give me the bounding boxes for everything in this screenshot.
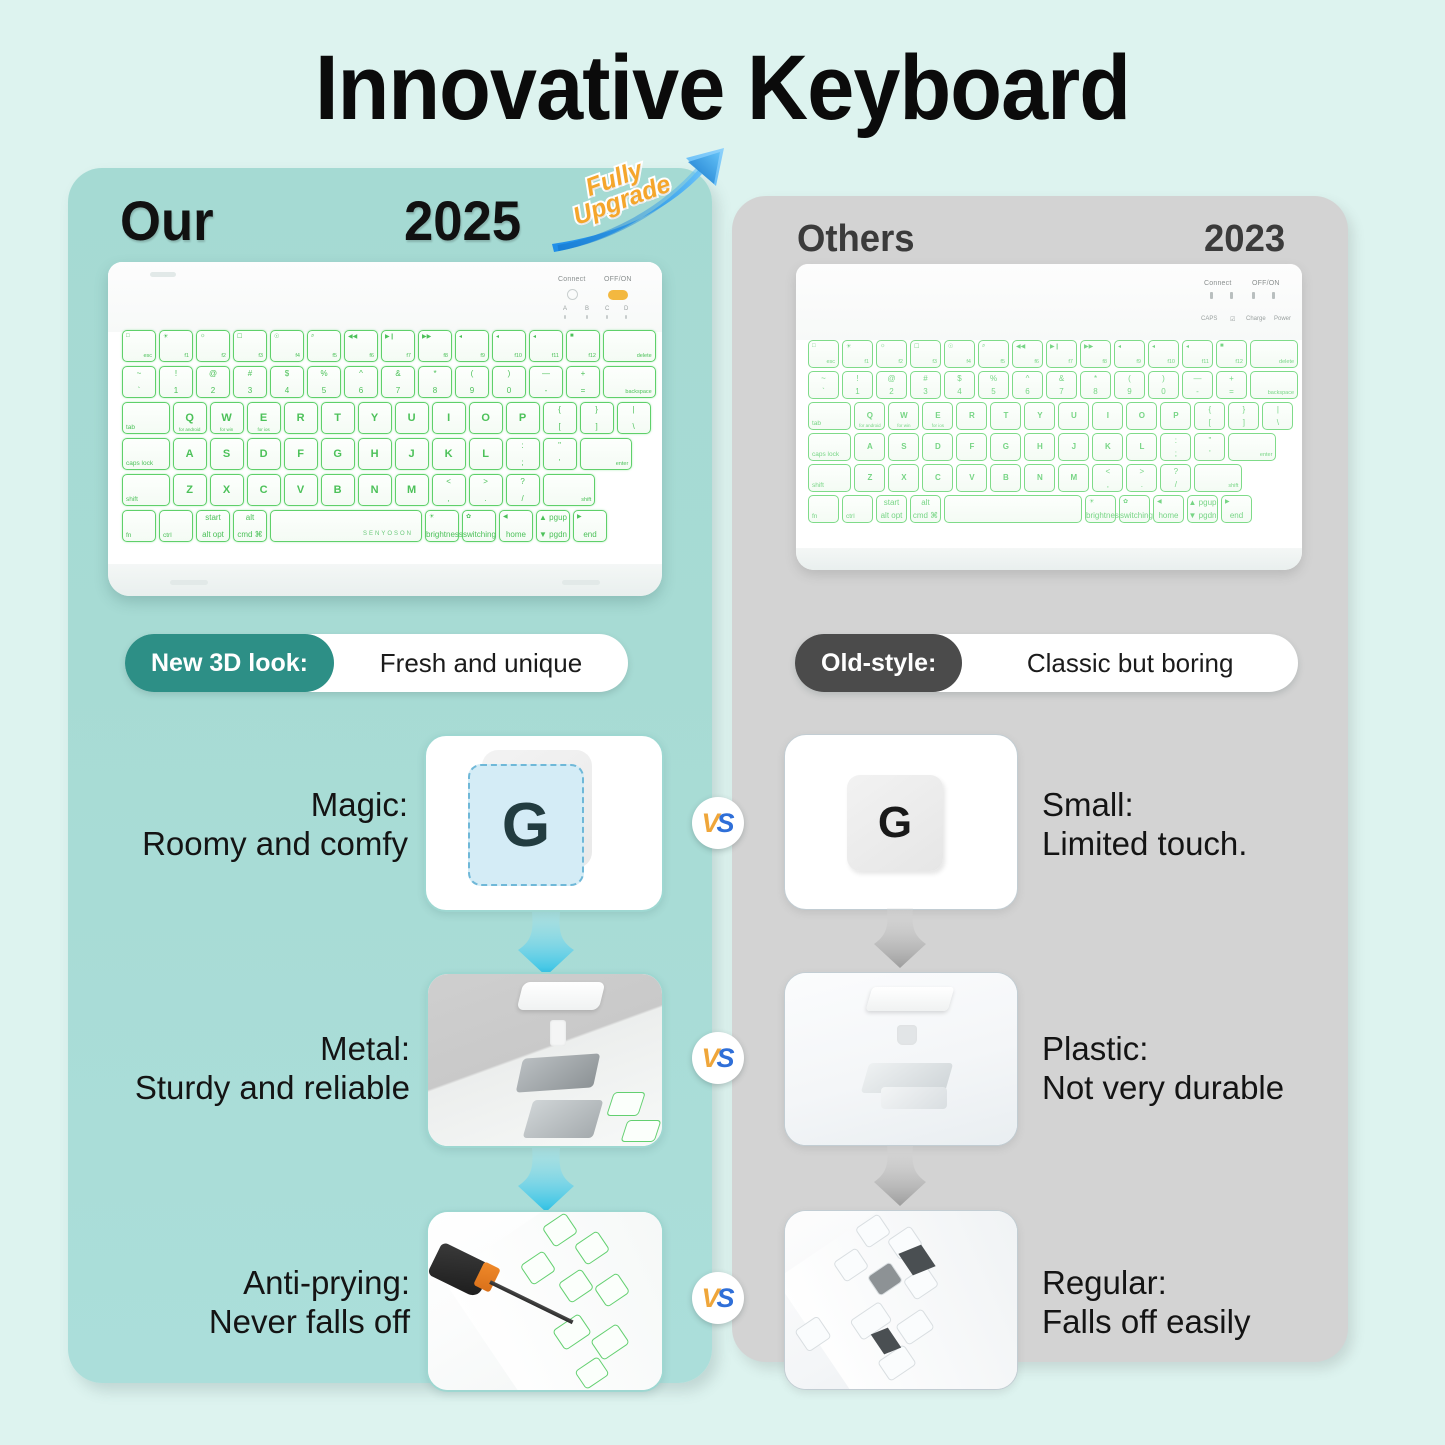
our-feature-1-detail: Roomy and comfy: [142, 825, 408, 864]
keyboard-key[interactable]: +=: [1216, 371, 1247, 399]
keyboard-key[interactable]: ▲ pgup▼ pgdn: [536, 510, 570, 542]
caps-indicator-label: CAPS: [1201, 316, 1217, 322]
keyboard-key[interactable]: (9: [455, 366, 489, 398]
others-plastic-structure-thumb: [784, 972, 1018, 1146]
keyboard-key[interactable]: (9: [1114, 371, 1145, 399]
keyboard-key[interactable]: #3: [910, 371, 941, 399]
our-feature-1-heading: Magic:: [142, 786, 408, 825]
keyboard-key[interactable]: □esc: [122, 330, 156, 362]
keyboard-key[interactable]: Wfor win: [888, 402, 919, 430]
keyboard-key[interactable]: ▶▶f8: [1080, 340, 1111, 368]
connect-indicator-icon: [567, 289, 578, 300]
keyboard-key[interactable]: ▶❙f7: [1046, 340, 1077, 368]
keyboard-key[interactable]: ^6: [1012, 371, 1043, 399]
keyboard-key[interactable]: Z: [854, 464, 885, 492]
keyboard-key[interactable]: tab: [808, 402, 851, 430]
keyboard-key[interactable]: |\: [617, 402, 651, 434]
vs-badge-3: VS: [692, 1272, 744, 1324]
charge-indicator-label: Charge: [1246, 316, 1266, 322]
keyboard-key[interactable]: ☐f3: [233, 330, 267, 362]
others-feature-3-text: Regular: Falls off easily: [1042, 1264, 1250, 1342]
keyboard-key[interactable]: ✿switching: [462, 510, 496, 542]
keyboard-key[interactable]: }]: [1228, 402, 1259, 430]
keyboard-key[interactable]: V: [284, 474, 318, 506]
keyboard-key[interactable]: S: [210, 438, 244, 470]
keyboard-key[interactable]: %5: [307, 366, 341, 398]
our-label: Our: [120, 188, 214, 253]
others-style-tag: Old-style:: [795, 634, 962, 692]
keyboard-key[interactable]: Efor ios: [922, 402, 953, 430]
keyboard-key[interactable]: U: [395, 402, 429, 434]
keyboard-key[interactable]: D: [247, 438, 281, 470]
keyboard-key[interactable]: &7: [1046, 371, 1077, 399]
power-indicator-label: Power: [1274, 316, 1291, 322]
others-feature-3-detail: Falls off easily: [1042, 1303, 1250, 1342]
keyboard-key[interactable]: caps lock: [122, 438, 170, 470]
keyboard-key[interactable]: J: [1058, 433, 1089, 461]
keyboard-key[interactable]: D: [922, 433, 953, 461]
keyboard-key[interactable]: Wfor win: [210, 402, 244, 434]
others-style-pill: Old-style: Classic but boring: [795, 634, 1298, 692]
keyboard-key[interactable]: ◂f10: [492, 330, 526, 362]
keyboard-key[interactable]: $4: [270, 366, 304, 398]
keyboard-key[interactable]: ?/: [1160, 464, 1191, 492]
key-row: tabQfor androidWfor winEfor iosRTYUIOP{[…: [808, 402, 1296, 430]
key-row: fnctrlstartalt optaltcmd ⌘☀brightness✿sw…: [808, 495, 1255, 523]
keyboard-key[interactable]: #3: [233, 366, 267, 398]
power-label: OFF/ON: [1252, 280, 1280, 287]
our-keycap-thumb: G: [424, 734, 664, 912]
key-row: shiftZXCVBNM<,>.?/shift: [122, 474, 598, 506]
keyboard-key[interactable]: startalt opt: [876, 495, 907, 523]
keyboard-key[interactable]: ▲ pgup▼ pgdn: [1187, 495, 1218, 523]
keyboard-key[interactable]: shift: [543, 474, 596, 506]
keyboard-key[interactable]: Z: [173, 474, 207, 506]
our-feature-2-heading: Metal:: [135, 1030, 410, 1069]
keyboard-key[interactable]: O: [1126, 402, 1157, 430]
keyboard-key[interactable]: ~`: [122, 366, 156, 398]
keyboard-key[interactable]: Efor ios: [247, 402, 281, 434]
our-feature-3-text: Anti-prying: Never falls off: [70, 1264, 410, 1342]
vs-s: S: [717, 1043, 735, 1074]
keyboard-key[interactable]: X: [888, 464, 919, 492]
infographic-root: Innovative Keyboard Our 2025 Others 2023: [0, 0, 1445, 1445]
keyboard-key[interactable]: backspace: [1250, 371, 1298, 399]
keyboard-key[interactable]: ◂f10: [1148, 340, 1179, 368]
keyboard-top-bezel: [796, 264, 1302, 340]
keyboard-key[interactable]: F: [284, 438, 318, 470]
keyboard-key[interactable]: "': [543, 438, 577, 470]
keyboard-key[interactable]: —-: [1182, 371, 1213, 399]
keyboard-key[interactable]: {[: [543, 402, 577, 434]
others-feature-1-detail: Limited touch.: [1042, 825, 1247, 864]
keyboard-key[interactable]: □esc: [808, 340, 839, 368]
keyboard-key[interactable]: ◀home: [1153, 495, 1184, 523]
indicator-letter-b: B: [585, 306, 589, 312]
keyboard-key[interactable]: ◂f9: [1114, 340, 1145, 368]
keyboard-key[interactable]: C: [247, 474, 281, 506]
page-title: Innovative Keyboard: [58, 36, 1387, 141]
key-row: caps lockASDFGHJKL:;"'enter: [808, 433, 1279, 461]
keyboard-key[interactable]: C: [922, 464, 953, 492]
keyboard-key[interactable]: >.: [469, 474, 503, 506]
keyboard-key[interactable]: }]: [580, 402, 614, 434]
keyboard-key[interactable]: M: [1058, 464, 1089, 492]
keyboard-key[interactable]: ctrl: [842, 495, 873, 523]
bezel-notch: [150, 272, 176, 277]
keyboard-key[interactable]: enter: [1228, 433, 1276, 461]
others-keycap-letter: G: [878, 798, 912, 848]
others-keycap-thumb: G: [784, 734, 1018, 910]
keyboard-key[interactable]: fn: [808, 495, 839, 523]
down-arrow-icon-left-2: [510, 1148, 582, 1214]
keyboard-key[interactable]: :;: [506, 438, 540, 470]
keyboard-bottom-lip: [796, 548, 1302, 570]
keyboard-key[interactable]: ☼f2: [196, 330, 230, 362]
keyboard-key[interactable]: !1: [159, 366, 193, 398]
keyboard-key[interactable]: ☉f4: [270, 330, 304, 362]
our-style-text: Fresh and unique: [334, 634, 628, 692]
keyboard-key[interactable]: S: [888, 433, 919, 461]
keyboard-key[interactable]: J: [395, 438, 429, 470]
our-feature-3-detail: Never falls off: [209, 1303, 410, 1342]
key-row: shiftZXCVBNM<,>.?/shift: [808, 464, 1245, 492]
keyboard-key[interactable]: [944, 495, 1082, 523]
vs-s: S: [717, 1283, 735, 1314]
keyboard-key[interactable]: ■f12: [566, 330, 600, 362]
down-arrow-icon-right-2: [866, 1146, 934, 1208]
keyboard-key[interactable]: ctrl: [159, 510, 193, 542]
our-feature-2-detail: Sturdy and reliable: [135, 1069, 410, 1108]
our-keycap-highlight: G: [468, 764, 584, 886]
keyboard-key[interactable]: O: [469, 402, 503, 434]
others-feature-2-detail: Not very durable: [1042, 1069, 1284, 1108]
our-feature-2-text: Metal: Sturdy and reliable: [70, 1030, 410, 1108]
keyboard-key[interactable]: ☀brightness: [425, 510, 459, 542]
keyboard-key[interactable]: N: [358, 474, 392, 506]
keyboard-key[interactable]: @2: [876, 371, 907, 399]
our-style-tag: New 3D look:: [125, 634, 334, 692]
our-style-pill: New 3D look: Fresh and unique: [125, 634, 628, 692]
key-row: tabQfor androidWfor winEfor iosRTYUIOP{[…: [122, 402, 654, 434]
indicator-letter-d: D: [624, 306, 628, 312]
keyboard-key[interactable]: backspace: [603, 366, 656, 398]
keyboard-key[interactable]: ▶end: [573, 510, 607, 542]
others-year: 2023: [1204, 218, 1285, 261]
lip-notch-right: [562, 580, 600, 585]
keyboard-key[interactable]: ⌕f5: [307, 330, 341, 362]
keyboard-key[interactable]: shift: [122, 474, 170, 506]
keyboard-key[interactable]: Y: [358, 402, 392, 434]
keyboard-key[interactable]: P: [506, 402, 540, 434]
keyboard-key[interactable]: $4: [944, 371, 975, 399]
keyboard-key[interactable]: SENYOSON: [270, 510, 422, 542]
keyboard-key[interactable]: altcmd ⌘: [233, 510, 267, 542]
keyboard-key[interactable]: fn: [122, 510, 156, 542]
keyboard-key[interactable]: {[: [1194, 402, 1225, 430]
keyboard-key[interactable]: <,: [432, 474, 466, 506]
indicator-letter-c: C: [605, 306, 609, 312]
connect-label: Connect: [1204, 280, 1231, 287]
keyboard-key[interactable]: %5: [978, 371, 1009, 399]
keyboard-key[interactable]: ▶end: [1221, 495, 1252, 523]
connect-label: Connect: [558, 276, 585, 283]
keyboard-key[interactable]: G: [990, 433, 1021, 461]
keyboard-key[interactable]: —-: [529, 366, 563, 398]
keyboard-key[interactable]: ~`: [808, 371, 839, 399]
our-antiprying-thumb: [426, 1210, 664, 1392]
keyboard-key[interactable]: ◂f11: [529, 330, 563, 362]
keyboard-key[interactable]: K: [432, 438, 466, 470]
vs-s: S: [717, 808, 735, 839]
keyboard-key[interactable]: ?/: [506, 474, 540, 506]
keyboard-key[interactable]: ☉f4: [944, 340, 975, 368]
keyboard-key[interactable]: altcmd ⌘: [910, 495, 941, 523]
keyboard-key[interactable]: caps lock: [808, 433, 851, 461]
our-feature-1-text: Magic: Roomy and comfy: [88, 786, 408, 864]
others-feature-2-heading: Plastic:: [1042, 1030, 1284, 1069]
power-label: OFF/ON: [604, 276, 632, 283]
keyboard-key[interactable]: P: [1160, 402, 1191, 430]
keyboard-key[interactable]: shift: [1194, 464, 1242, 492]
keyboard-key[interactable]: Qfor android: [173, 402, 207, 434]
others-feature-1-heading: Small:: [1042, 786, 1247, 825]
keyboard-key[interactable]: ◀◀f6: [1012, 340, 1043, 368]
keyboard-key[interactable]: Qfor android: [854, 402, 885, 430]
keyboard-key[interactable]: U: [1058, 402, 1089, 430]
power-switch-icon: [608, 290, 628, 300]
keyboard-key[interactable]: G: [321, 438, 355, 470]
keyboard-key[interactable]: M: [395, 474, 429, 506]
keyboard-key[interactable]: N: [1024, 464, 1055, 492]
keyboard-key[interactable]: X: [210, 474, 244, 506]
keyboard-key[interactable]: "': [1194, 433, 1225, 461]
keyboard-key[interactable]: F: [956, 433, 987, 461]
our-metal-structure-thumb: [426, 972, 664, 1148]
keyboard-key[interactable]: enter: [580, 438, 633, 470]
keyboard-key[interactable]: I: [1092, 402, 1123, 430]
key-row: ~`!1@2#3$4%5^6&7*8(9)0—-+=backspace: [808, 371, 1301, 399]
keyboard-key[interactable]: ☐f3: [910, 340, 941, 368]
our-year: 2025: [404, 188, 521, 253]
keyboard-key[interactable]: R: [284, 402, 318, 434]
keyboard-key[interactable]: tab: [122, 402, 170, 434]
key-row: fnctrlstartalt optaltcmd ⌘SENYOSON☀brigh…: [122, 510, 610, 542]
keyboard-key[interactable]: ◂f9: [455, 330, 489, 362]
keyboard-key[interactable]: ▶▶f8: [418, 330, 452, 362]
keyboard-key[interactable]: ☀brightness: [1085, 495, 1116, 523]
keyboard-key[interactable]: ✿switching: [1119, 495, 1150, 523]
keyboard-key[interactable]: V: [956, 464, 987, 492]
fully-upgrade-badge: Fully Upgrade: [548, 148, 734, 260]
down-arrow-icon-left-1: [510, 912, 582, 978]
keyboard-top-bezel: [108, 262, 662, 332]
keyboard-key[interactable]: )0: [492, 366, 526, 398]
keyboard-key[interactable]: ▶❙f7: [381, 330, 415, 362]
keyboard-key[interactable]: ◀◀f6: [344, 330, 378, 362]
vs-badge-1: VS: [692, 797, 744, 849]
wifi-icon: ☑: [1230, 316, 1235, 323]
keyboard-key[interactable]: R: [956, 402, 987, 430]
lip-notch-left: [170, 580, 208, 585]
keyboard-key[interactable]: !1: [842, 371, 873, 399]
keyboard-key[interactable]: H: [358, 438, 392, 470]
our-keyboard-image: Connect OFF/ON A B C D □esc☀f1☼f2☐f3☉f4⌕…: [108, 262, 662, 596]
others-style-text: Classic but boring: [962, 634, 1298, 692]
others-feature-2-text: Plastic: Not very durable: [1042, 1030, 1284, 1108]
keyboard-key[interactable]: I: [432, 402, 466, 434]
keyboard-key[interactable]: startalt opt: [196, 510, 230, 542]
keyboard-key[interactable]: ◂f11: [1182, 340, 1213, 368]
keyboard-key[interactable]: ^6: [344, 366, 378, 398]
others-feature-1-text: Small: Limited touch.: [1042, 786, 1247, 864]
keyboard-key[interactable]: delete: [603, 330, 656, 362]
key-row: caps lockASDFGHJKL:;"'enter: [122, 438, 635, 470]
keyboard-key[interactable]: ☼f2: [876, 340, 907, 368]
keyboard-key[interactable]: @2: [196, 366, 230, 398]
key-row: ~`!1@2#3$4%5^6&7*8(9)0—-+=backspace: [122, 366, 659, 398]
keyboard-key[interactable]: Y: [1024, 402, 1055, 430]
keyboard-key[interactable]: <,: [1092, 464, 1123, 492]
key-row: □esc☀f1☼f2☐f3☉f4⌕f5◀◀f6▶❙f7▶▶f8◂f9◂f10◂f…: [808, 340, 1301, 368]
our-keycap-letter: G: [502, 790, 550, 861]
keyboard-key[interactable]: shift: [808, 464, 851, 492]
keyboard-key[interactable]: delete: [1250, 340, 1298, 368]
keyboard-key[interactable]: K: [1092, 433, 1123, 461]
keyboard-key[interactable]: A: [854, 433, 885, 461]
keyboard-key[interactable]: L: [469, 438, 503, 470]
keyboard-key[interactable]: :;: [1160, 433, 1191, 461]
others-label: Others: [797, 218, 915, 261]
keyboard-key[interactable]: ■f12: [1216, 340, 1247, 368]
keyboard-key[interactable]: ☀f1: [159, 330, 193, 362]
keyboard-key[interactable]: &7: [381, 366, 415, 398]
keyboard-key[interactable]: B: [990, 464, 1021, 492]
keyboard-key[interactable]: ⌕f5: [978, 340, 1009, 368]
keyboard-key[interactable]: *8: [1080, 371, 1111, 399]
our-feature-3-heading: Anti-prying:: [209, 1264, 410, 1303]
keyboard-key[interactable]: *8: [418, 366, 452, 398]
spacebar-brand: SENYOSON: [363, 531, 413, 537]
keyboard-key[interactable]: |\: [1262, 402, 1293, 430]
keyboard-key[interactable]: L: [1126, 433, 1157, 461]
keyboard-key[interactable]: B: [321, 474, 355, 506]
others-regular-keys-thumb: [784, 1210, 1018, 1390]
keyboard-key[interactable]: +=: [566, 366, 600, 398]
keyboard-key[interactable]: A: [173, 438, 207, 470]
down-arrow-icon-right-1: [866, 908, 934, 970]
indicator-letter-a: A: [563, 306, 567, 312]
keyboard-key[interactable]: T: [321, 402, 355, 434]
keyboard-key[interactable]: ◀home: [499, 510, 533, 542]
keyboard-key[interactable]: >.: [1126, 464, 1157, 492]
others-feature-3-heading: Regular:: [1042, 1264, 1250, 1303]
vs-badge-2: VS: [692, 1032, 744, 1084]
others-keyboard-image: Connect OFF/ON CAPS ☑ Charge Power □esc☀…: [796, 264, 1302, 570]
keyboard-key[interactable]: T: [990, 402, 1021, 430]
key-row: □esc☀f1☼f2☐f3☉f4⌕f5◀◀f6▶❙f7▶▶f8◂f9◂f10◂f…: [122, 330, 659, 362]
keyboard-key[interactable]: )0: [1148, 371, 1179, 399]
keyboard-key[interactable]: ☀f1: [842, 340, 873, 368]
keyboard-key[interactable]: H: [1024, 433, 1055, 461]
